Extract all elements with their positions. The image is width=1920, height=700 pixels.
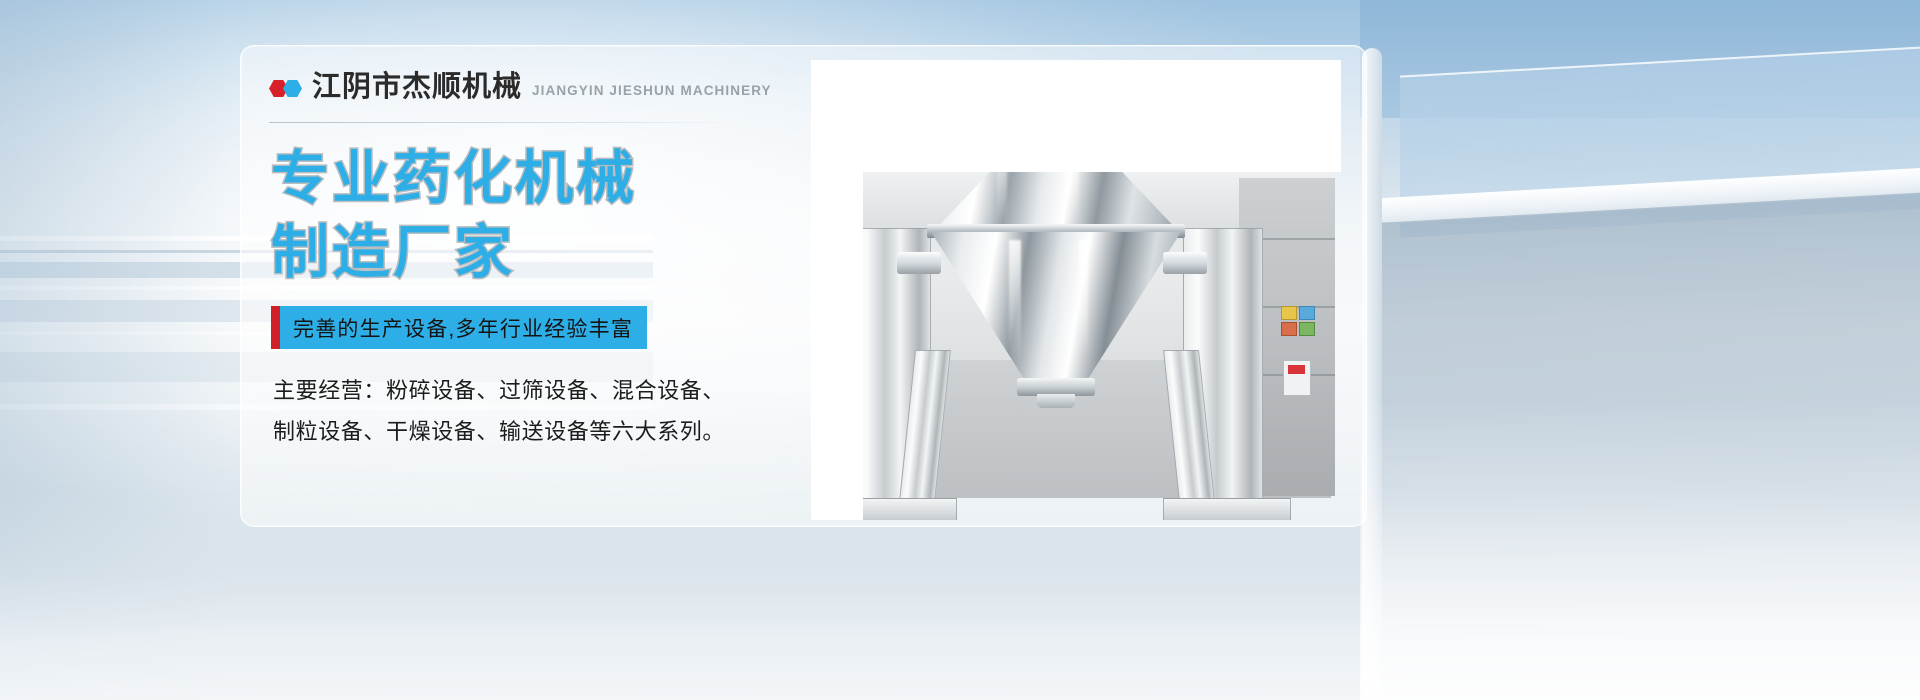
headline: 专业药化机械 制造厂家 — [271, 142, 637, 290]
company-logo — [269, 80, 302, 97]
content-card: 江阴市杰顺机械 JIANGYIN JIESHUN MACHINERY 专业药化机… — [240, 45, 1367, 527]
brand-lockup: 江阴市杰顺机械 JIANGYIN JIESHUN MACHINERY — [269, 73, 772, 102]
photo-label-sticker — [1281, 306, 1297, 320]
machine-highlight — [1079, 240, 1088, 358]
hexagon-icon — [283, 80, 302, 97]
photo-label-sticker — [1299, 306, 1315, 320]
machine-trunnion — [1163, 252, 1207, 274]
tagline-text: 完善的生产设备,多年行业经验丰富 — [280, 313, 647, 343]
company-name-cn: 江阴市杰顺机械 — [312, 73, 522, 102]
company-name-en: JIANGYIN JIESHUN MACHINERY — [532, 83, 772, 98]
tagline-strip: 完善的生产设备,多年行业经验丰富 — [271, 306, 647, 349]
machine-highlight — [1009, 240, 1021, 364]
copy-column: 江阴市杰顺机械 JIANGYIN JIESHUN MACHINERY 专业药化机… — [269, 46, 789, 526]
photo-white-margin — [811, 60, 1341, 172]
product-photo — [811, 60, 1341, 520]
headline-line-1: 专业药化机械 — [271, 142, 637, 216]
business-scope-text: 主要经营：粉碎设备、过筛设备、混合设备、 制粒设备、干燥设备、输送设备等六大系列… — [273, 371, 783, 452]
warning-sign-bar — [1288, 365, 1305, 374]
machine-trunnion — [897, 252, 941, 274]
business-scope-line-2: 制粒设备、干燥设备、输送设备等六大系列。 — [273, 412, 783, 453]
business-scope-line-1: 主要经营：粉碎设备、过筛设备、混合设备、 — [273, 371, 783, 412]
photo-label-sticker — [1281, 322, 1297, 336]
photo-label-sticker — [1299, 322, 1315, 336]
headline-line-2: 制造厂家 — [271, 216, 637, 290]
machine-discharge-valve — [1037, 394, 1075, 408]
hero-banner: 江阴市杰顺机械 JIANGYIN JIESHUN MACHINERY 专业药化机… — [0, 0, 1920, 700]
brand-divider — [269, 122, 735, 123]
machine-base-foot — [1163, 498, 1291, 520]
photo-warning-sign — [1283, 360, 1311, 396]
tagline-accent-bar — [271, 306, 280, 349]
